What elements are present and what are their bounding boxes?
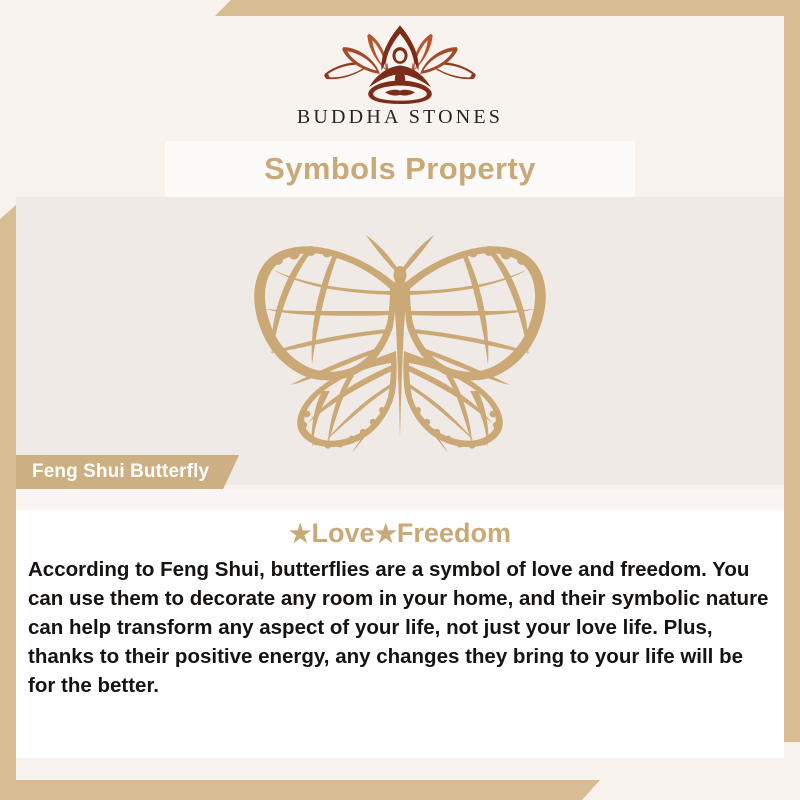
promo-card: BUDDHA STONES Symbols Property xyxy=(0,0,800,800)
title-banner: Symbols Property xyxy=(165,141,635,197)
star-icon-left: ★ xyxy=(289,520,311,548)
badge-label: Feng Shui Butterfly xyxy=(32,461,209,483)
frame-band-top xyxy=(215,0,800,16)
page-title: Symbols Property xyxy=(264,151,536,187)
tagline-word-freedom: Freedom xyxy=(397,518,511,548)
frame-band-left xyxy=(0,205,16,800)
feng-shui-butterfly-badge: Feng Shui Butterfly xyxy=(16,455,239,489)
divider-strip xyxy=(16,489,784,510)
tagline: ★Love★Freedom xyxy=(16,518,784,549)
description-paragraph: According to Feng Shui, butterflies are … xyxy=(16,555,784,701)
lotus-meditation-figure-icon xyxy=(316,22,484,104)
brand-header: BUDDHA STONES xyxy=(16,16,784,142)
brand-name: BUDDHA STONES xyxy=(297,106,503,129)
illustration-stage xyxy=(16,197,784,485)
monarch-butterfly-icon xyxy=(214,223,586,459)
tagline-word-love: Love xyxy=(311,518,374,548)
description-panel: ★Love★Freedom According to Feng Shui, bu… xyxy=(16,510,784,758)
frame-band-bottom xyxy=(0,780,600,800)
frame-band-right xyxy=(784,0,800,742)
star-icon-middle: ★ xyxy=(375,520,397,548)
